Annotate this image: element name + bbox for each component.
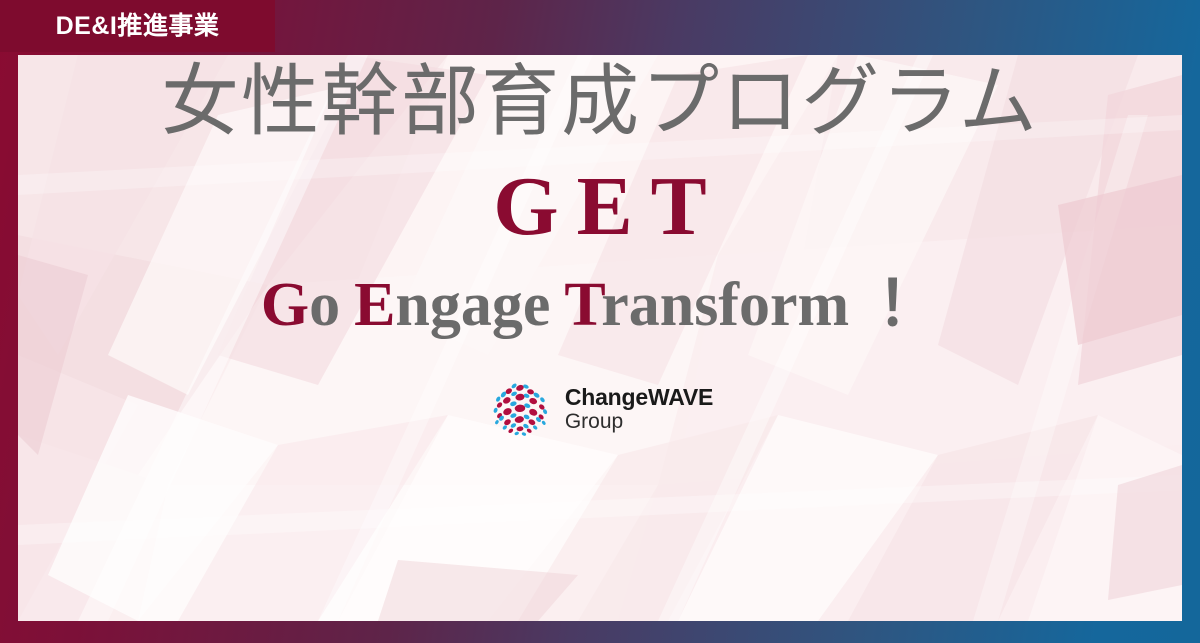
tagline-rest-transform: ransform <box>601 271 849 339</box>
tagline-word-transform: Transform <box>564 271 849 339</box>
tagline-rest-go: o <box>309 271 340 339</box>
tagline-rest-engage: ngage <box>395 271 550 339</box>
brand-logo: ChangeWAVE Group <box>487 376 713 442</box>
tagline-initial-e: E <box>354 271 395 339</box>
tagline-word-engage: Engage <box>354 271 550 339</box>
changewave-sphere-icon <box>487 376 553 442</box>
banner-content: 女性幹部育成プログラム GET GoEngageTransform！ <box>0 0 1200 643</box>
badge: DE&I推進事業 <box>0 0 275 52</box>
tagline-exclamation: ！ <box>877 271 939 339</box>
tagline-initial-t: T <box>564 271 601 339</box>
tagline-word-go: Go <box>261 271 340 339</box>
page-title: 女性幹部育成プログラム <box>161 63 1039 141</box>
brand-subname: Group <box>565 411 713 433</box>
promotional-banner: DE&I推進事業 女性幹部育成プログラム GET GoEngageTransfo… <box>0 0 1200 643</box>
brand-name: ChangeWAVE <box>565 385 713 409</box>
program-acronym: GET <box>475 165 724 249</box>
brand-wordmark: ChangeWAVE Group <box>565 385 713 432</box>
tagline: GoEngageTransform！ <box>261 274 939 336</box>
badge-label: DE&I推進事業 <box>56 14 220 39</box>
tagline-initial-g: G <box>261 271 309 339</box>
